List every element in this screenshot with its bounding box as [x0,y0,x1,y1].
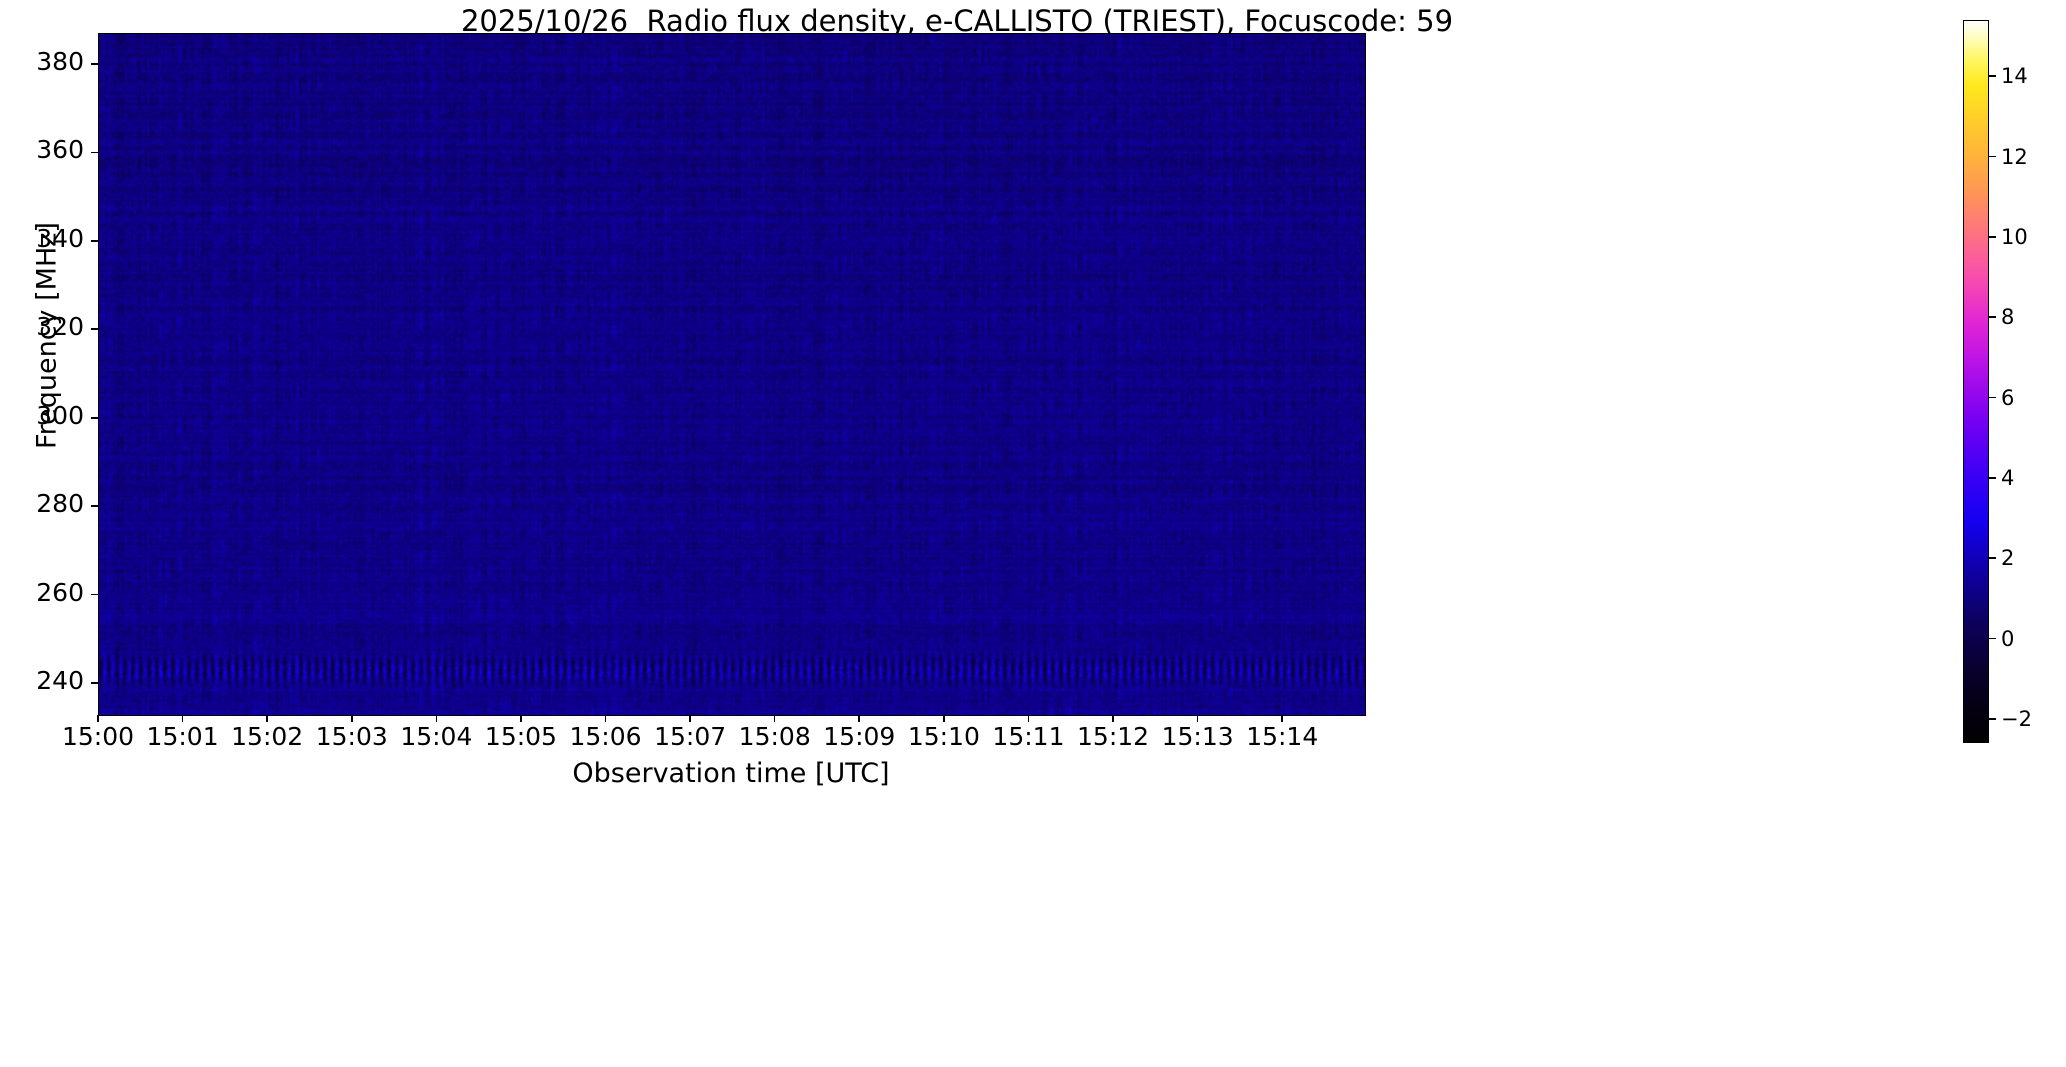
x-tick-label: 15:02 [231,722,303,751]
colorbar-tick-label: 10 [2001,225,2028,249]
x-tick-mark [689,715,691,722]
x-tick-label: 15:03 [316,722,388,751]
x-tick-mark [436,715,438,722]
spectrogram-plot-area[interactable] [98,33,1366,716]
colorbar[interactable]: 14121086420−2 [1963,20,1989,743]
x-tick-label: 15:07 [654,722,726,751]
colorbar-tick-mark [1989,75,1996,77]
y-tick-label: 380 [0,47,84,76]
spectrogram-image [99,34,1365,715]
colorbar-tick-label: 6 [2001,386,2014,410]
y-tick-label: 280 [0,489,84,518]
x-tick-label: 15:05 [485,722,557,751]
x-tick-mark [1197,715,1199,722]
x-tick-label: 15:14 [1246,722,1318,751]
y-tick-label: 260 [0,578,84,607]
colorbar-tick-label: 0 [2001,627,2014,651]
colorbar-tick-label: 8 [2001,305,2014,329]
x-tick-mark [97,715,99,722]
y-tick-label: 340 [0,224,84,253]
colorbar-tick-mark [1989,638,1996,640]
x-tick-mark [858,715,860,722]
colorbar-tick-label: 12 [2001,145,2028,169]
y-tick-label: 320 [0,312,84,341]
x-tick-label: 15:10 [908,722,980,751]
spectrogram-figure: 2025/10/26 Radio flux density, e-CALLIST… [0,0,2066,1067]
colorbar-tick-mark [1989,397,1996,399]
x-axis-label: Observation time [UTC] [98,758,1364,789]
x-tick-label: 15:01 [147,722,219,751]
x-tick-mark [1281,715,1283,722]
y-tick-mark [91,240,98,242]
y-tick-mark [91,417,98,419]
colorbar-tick-mark [1989,236,1996,238]
x-tick-label: 15:00 [62,722,134,751]
x-tick-label: 15:11 [992,722,1064,751]
x-tick-mark [943,715,945,722]
x-tick-label: 15:09 [823,722,895,751]
y-tick-label: 240 [0,666,84,695]
x-tick-mark [1028,715,1030,722]
x-tick-mark [520,715,522,722]
colorbar-tick-mark [1989,557,1996,559]
colorbar-tick-label: 14 [2001,64,2028,88]
x-tick-mark [1112,715,1114,722]
colorbar-tick-mark [1989,156,1996,158]
x-tick-mark [266,715,268,722]
y-tick-mark [91,682,98,684]
x-tick-mark [774,715,776,722]
colorbar-tick-mark [1989,477,1996,479]
y-tick-mark [91,505,98,507]
colorbar-gradient [1963,20,1989,743]
y-tick-mark [91,594,98,596]
colorbar-tick-label: 2 [2001,546,2014,570]
x-tick-mark [182,715,184,722]
colorbar-tick-label: −2 [2001,707,2032,731]
x-tick-label: 15:13 [1162,722,1234,751]
x-tick-mark [351,715,353,722]
colorbar-tick-mark [1989,718,1996,720]
colorbar-tick-mark [1989,316,1996,318]
y-tick-mark [91,152,98,154]
x-tick-label: 15:06 [569,722,641,751]
colorbar-tick-label: 4 [2001,466,2014,490]
x-tick-label: 15:04 [400,722,472,751]
x-tick-label: 15:12 [1077,722,1149,751]
x-tick-mark [605,715,607,722]
y-tick-label: 360 [0,135,84,164]
y-tick-mark [91,328,98,330]
y-tick-mark [91,63,98,65]
x-tick-label: 15:08 [739,722,811,751]
y-tick-label: 300 [0,401,84,430]
